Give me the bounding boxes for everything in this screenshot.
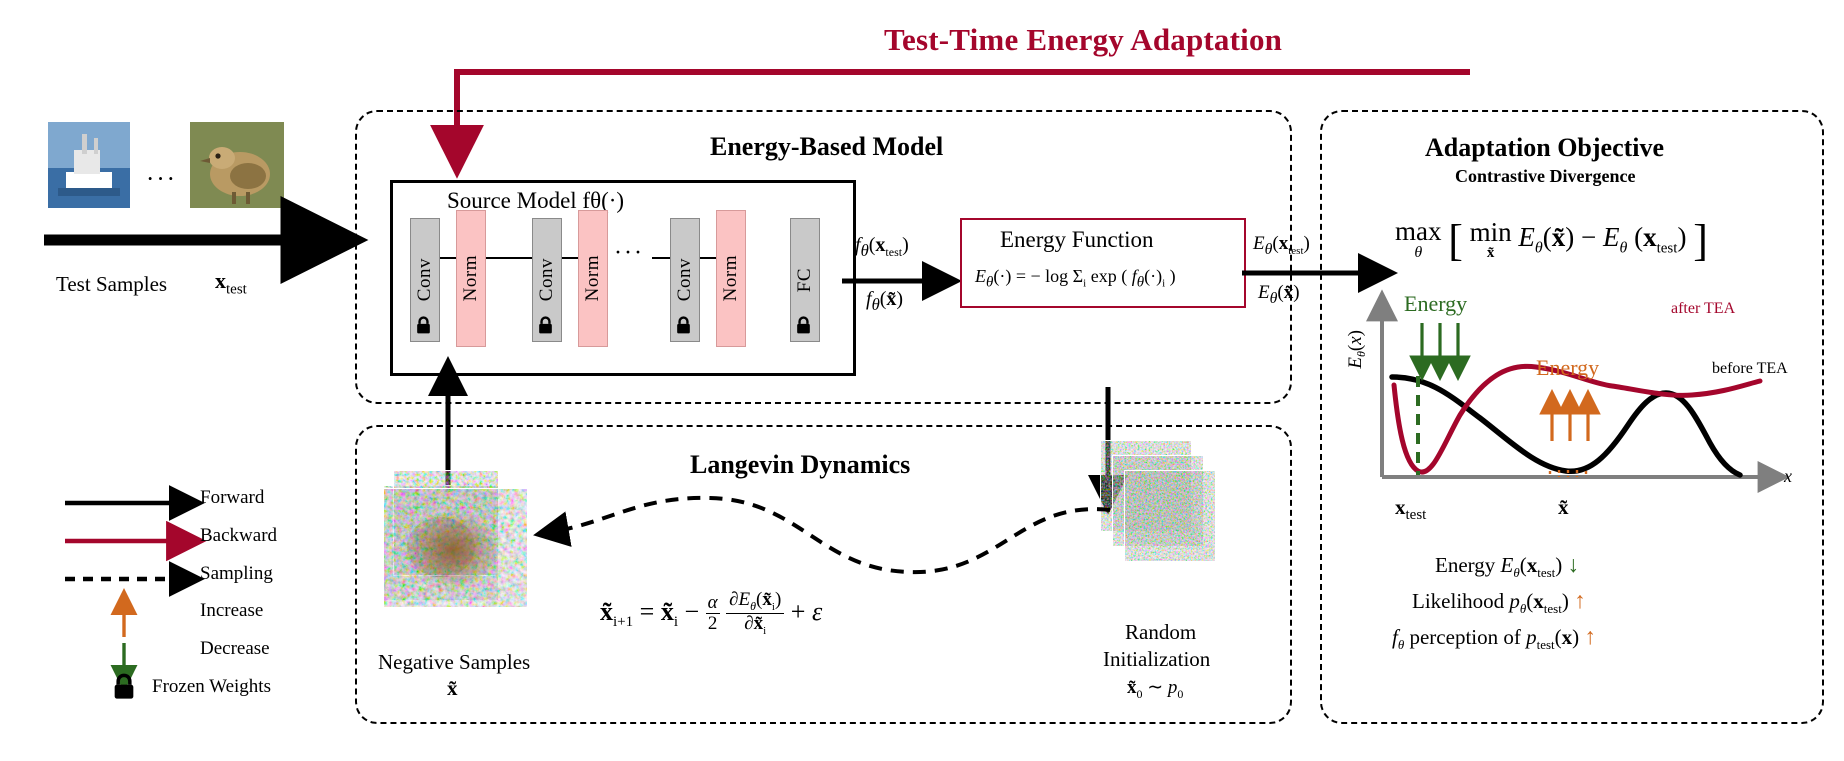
layer-norm-2: Norm [578, 210, 608, 347]
up-arrow-icon: ↑ [1574, 588, 1586, 613]
lock-icon [536, 316, 555, 335]
layer-label: Norm [720, 255, 742, 301]
layer-label: Conv [536, 258, 558, 301]
plot-annotation-energy-orange: Energy [1536, 355, 1599, 381]
negative-samples-symbol: x̃ [447, 676, 458, 701]
random-init-image-1 [1124, 470, 1216, 562]
objective-statement-3: fθ perception of ptest(x) ↑ [1392, 624, 1596, 653]
panel-title-objective: Adaptation Objective [1425, 133, 1664, 163]
legend-item-backward: Backward [200, 525, 277, 547]
layer-label: Conv [674, 258, 696, 301]
legend-item-sampling: Sampling [200, 563, 273, 585]
plot-tick-xtest: xtest [1395, 495, 1426, 524]
input-label: Test Samples [56, 272, 167, 297]
input-symbol: xtest [215, 268, 247, 298]
random-init-label-line1: Random [1125, 620, 1196, 645]
legend-label: Backward [200, 525, 277, 546]
lock-icon [794, 316, 813, 335]
random-init-formula: x̃0 ∼ p0 [1127, 676, 1183, 702]
layer-norm-1: Norm [456, 210, 486, 347]
plot-tick-xtilde: x̃ [1558, 495, 1569, 520]
plot-ylabel: Eθ(x) [1345, 330, 1369, 369]
energy-function-title: Energy Function [1000, 227, 1154, 253]
out-label-E-xtilde: Eθ(x̃) [1258, 282, 1300, 308]
langevin-update-formula: x̃i+1 = x̃i − α 2 ∂Eθ(x̃i) ∂x̃i + ε [600, 590, 822, 638]
legend-item-increase: Increase [200, 600, 263, 622]
energy-function-formula: Eθ(·) = − log Σi exp ( fθ(·)i ) [975, 266, 1176, 292]
layer-label: FC [794, 268, 816, 292]
legend-label: Forward [200, 487, 264, 508]
test-sample-image-ship [48, 122, 130, 208]
legend-item-decrease: Decrease [200, 638, 270, 660]
down-arrow-icon: ↓ [1568, 552, 1580, 577]
legend-lock-icon [110, 673, 138, 701]
legend-item-forward: Forward [200, 487, 264, 509]
layer-label: Conv [414, 258, 436, 301]
panel-title-ebm: Energy-Based Model [710, 132, 943, 162]
edge-label-f-xtilde: fθ(x̃) [866, 288, 903, 315]
legend-item-frozen-weights: Frozen Weights [152, 676, 271, 698]
test-sample-image-bird [190, 122, 284, 208]
legend-label: Increase [200, 600, 263, 621]
layer-label: Norm [460, 255, 482, 301]
legend-label: Decrease [200, 638, 270, 659]
figure-top-title: Test-Time Energy Adaptation [884, 22, 1282, 58]
objective-statement-1: Energy Eθ(xtest) ↓ [1435, 552, 1579, 581]
negative-samples-label: Negative Samples [378, 650, 530, 675]
layer-ellipsis: ··· [614, 240, 644, 267]
plot-xlabel: x [1784, 466, 1792, 487]
energy-landscape-plot [1340, 285, 1810, 500]
layer-label: Norm [582, 255, 604, 301]
panel-subtitle-objective: Contrastive Divergence [1455, 166, 1635, 187]
objective-statement-2: Likelihood pθ(xtest) ↑ [1412, 588, 1586, 617]
input-ellipsis: ··· [146, 166, 177, 194]
plot-annotation-energy-green: Energy [1404, 291, 1467, 317]
legend-label: Frozen Weights [152, 676, 271, 697]
legend-label: Sampling [200, 563, 273, 584]
edge-label-f-xtest: fθ(xtest) [855, 234, 909, 261]
panel-title-langevin: Langevin Dynamics [690, 450, 910, 480]
lock-icon [414, 316, 433, 335]
layer-norm-3: Norm [716, 210, 746, 347]
out-label-E-xtest: Eθ(xtest) [1253, 233, 1310, 259]
objective-formula: max θ [ min x̃ Eθ(x̃) − Eθ (xtest) ] [1395, 215, 1708, 266]
plot-annotation-after-tea: after TEA [1671, 300, 1735, 318]
arrow-test-samples-input [40, 222, 370, 262]
lock-icon [674, 316, 693, 335]
negative-sample-image-1 [383, 488, 528, 608]
plot-annotation-before-tea: before TEA [1712, 360, 1788, 378]
up-arrow-icon: ↑ [1584, 624, 1596, 649]
random-init-label-line2: Initialization [1103, 647, 1210, 672]
